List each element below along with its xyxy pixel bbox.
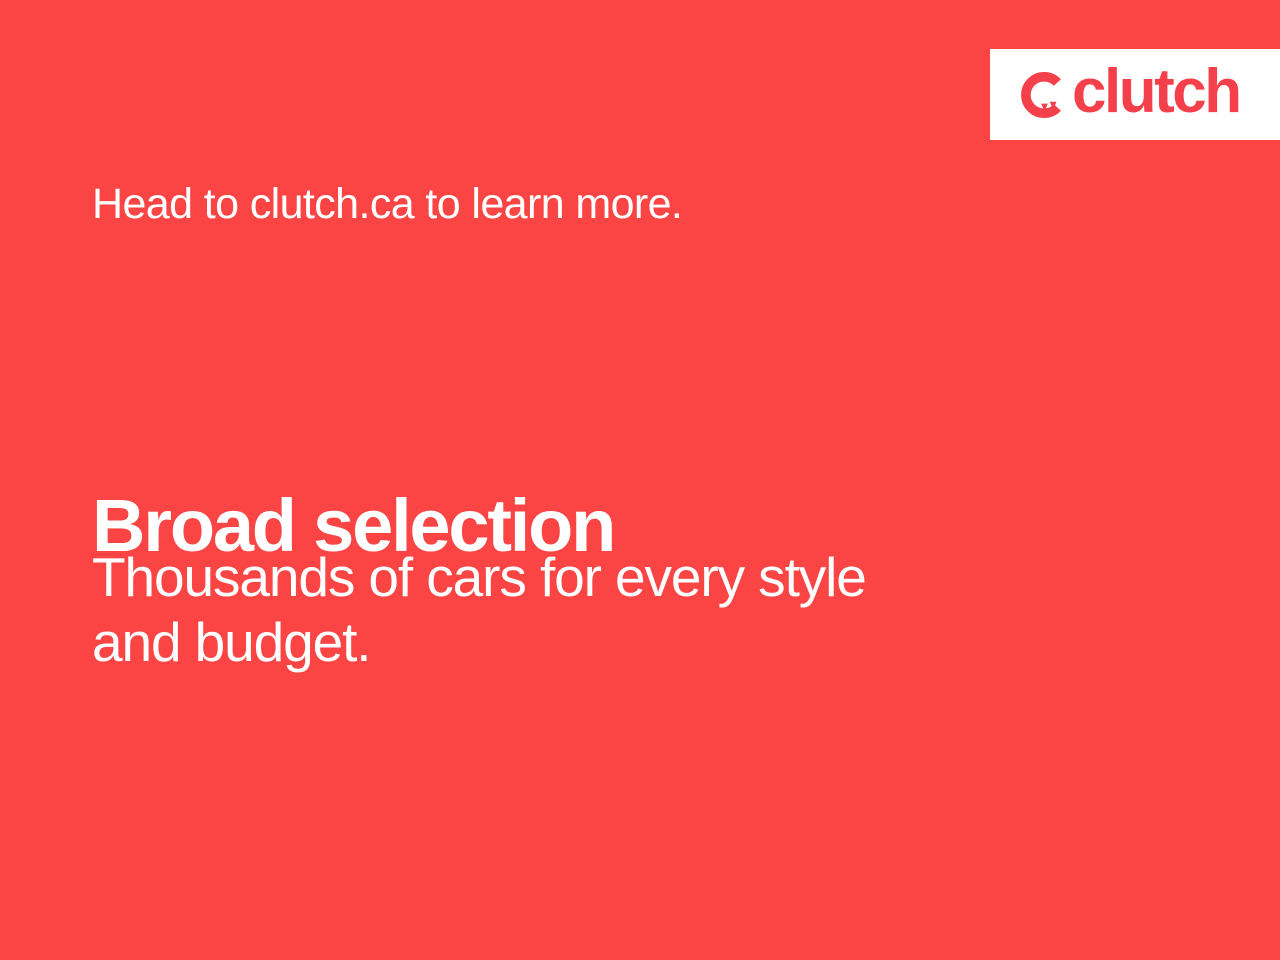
promo-slide: clutch Head to clutch.ca to learn more. …: [0, 0, 1280, 960]
kicker-text: Head to clutch.ca to learn more.: [92, 180, 682, 229]
clutch-logo[interactable]: clutch: [1020, 64, 1240, 126]
clutch-wordmark: clutch: [1072, 61, 1240, 123]
brand-logo-plate: clutch: [990, 49, 1280, 140]
subheadline-line-1: Thousands of cars for every style: [92, 545, 866, 610]
subheadline: Thousands of cars for every style and bu…: [92, 545, 866, 676]
clutch-c-mark-icon: [1020, 71, 1068, 119]
subheadline-line-2: and budget.: [92, 610, 866, 675]
